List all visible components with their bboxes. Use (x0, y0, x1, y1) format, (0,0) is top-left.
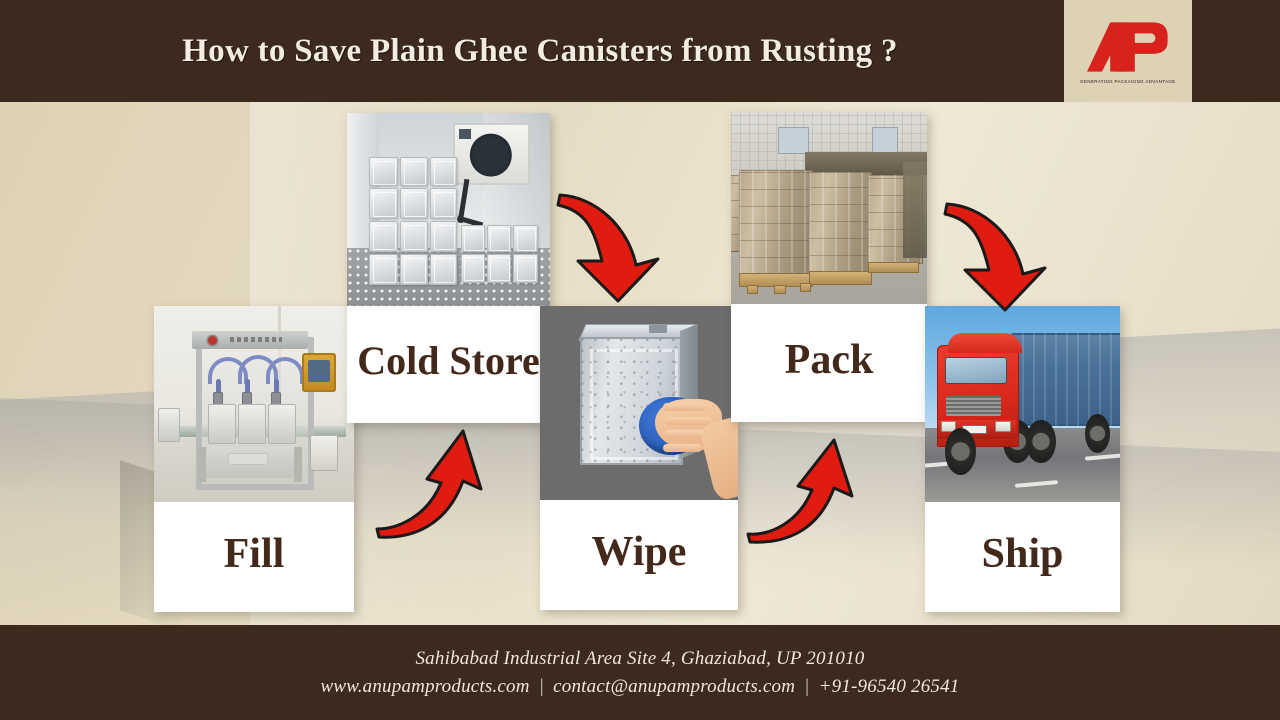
shipping-container (1011, 333, 1120, 425)
arrow-fill-to-cold-store (371, 421, 497, 539)
step-label-pack: Pack (731, 304, 927, 422)
step-label-cold-store: Cold Store (347, 306, 550, 423)
footer-phone[interactable]: +91-96540 26541 (819, 676, 960, 698)
step-image-pack (731, 112, 927, 304)
step-card-ship[interactable]: Ship (925, 306, 1120, 612)
arrow-cold-store-to-wipe (556, 183, 678, 306)
footer-email[interactable]: contact@anupamproducts.com (553, 676, 795, 698)
arrow-wipe-to-pack (744, 434, 868, 544)
footer-website[interactable]: www.anupamproducts.com (321, 676, 530, 698)
step-label-wipe: Wipe (540, 500, 738, 610)
header-bar: How to Save Plain Ghee Canisters from Ru… (0, 0, 1280, 102)
company-logo: GENERATING PACKAGING ADVANTAGE (1064, 0, 1192, 102)
footer-separator-1: | (539, 676, 544, 698)
footer-contact-line: www.anupamproducts.com | contact@anupamp… (321, 676, 960, 698)
ap-logo-icon (1087, 18, 1169, 76)
step-card-wipe[interactable]: Wipe (540, 306, 738, 610)
logo-tagline: GENERATING PACKAGING ADVANTAGE (1080, 79, 1175, 84)
step-card-cold-store[interactable]: Cold Store (347, 113, 550, 423)
footer-bar: Sahibabad Industrial Area Site 4, Ghazia… (0, 625, 1280, 720)
step-image-ship (925, 306, 1120, 502)
step-label-fill: Fill (154, 502, 354, 612)
page-title: How to Save Plain Ghee Canisters from Ru… (0, 0, 1062, 102)
step-card-fill[interactable]: Fill (154, 306, 354, 612)
step-label-ship: Ship (925, 502, 1120, 612)
footer-address: Sahibabad Industrial Area Site 4, Ghazia… (415, 648, 864, 670)
step-image-cold-store (347, 113, 550, 306)
step-image-fill (154, 306, 354, 502)
step-image-wipe (540, 306, 738, 500)
arrow-pack-to-ship (943, 194, 1065, 314)
footer-separator-2: | (804, 676, 809, 698)
step-card-pack[interactable]: Pack (731, 112, 927, 422)
infographic-slide: How to Save Plain Ghee Canisters from Ru… (0, 0, 1280, 720)
